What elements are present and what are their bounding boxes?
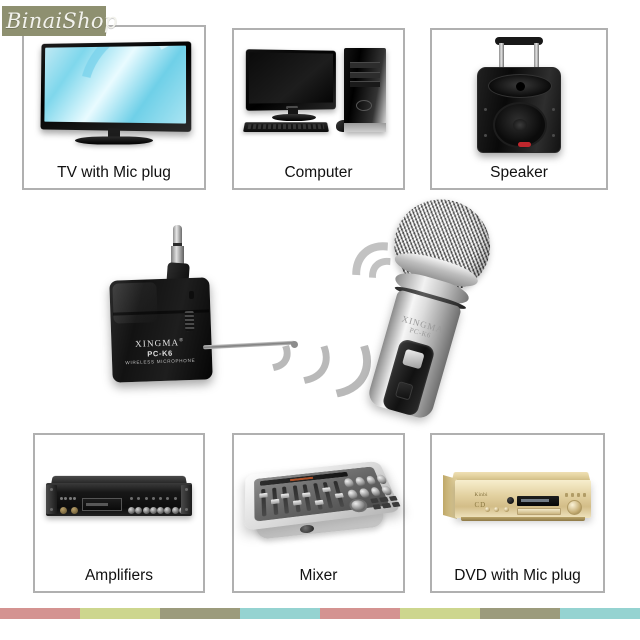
color-strip-band-5 [400,608,480,619]
wireless-receiver-product: XINGMA® PC-K6 WIRELESS MICROPHONE [103,225,283,375]
compat-caption-mixer: Mixer [234,567,403,585]
dvd-player-icon: Kinbi CD [432,439,603,557]
compat-box-tv: TV with Mic plug [22,25,206,190]
compat-caption-tv: TV with Mic plug [24,164,204,182]
compat-box-dvd: Kinbi CD DVD with Mic plug [430,433,605,593]
shop-watermark-logo: BinaiShop [2,6,106,36]
compat-box-speaker: Speaker [430,28,608,190]
audio-mixer-icon [234,439,403,557]
receiver-label-block: XINGMA® PC-K6 WIRELESS MICROPHONE [117,338,204,366]
compat-caption-speaker: Speaker [432,164,606,182]
receiver-brand-mark: ® [179,338,184,343]
portable-speaker-icon [432,34,606,154]
color-strip-band-2 [160,608,240,619]
color-strip-band-4 [320,608,400,619]
compat-box-computer: Computer [232,28,405,190]
wireless-microphone-product: XINGMA PC-K6 [375,195,550,425]
color-strip-band-0 [0,608,80,619]
television-icon [24,31,204,154]
compat-box-mixer: Mixer [232,433,405,593]
color-strip-band-3 [240,608,320,619]
compat-caption-dvd: DVD with Mic plug [432,567,603,585]
desktop-computer-icon [234,34,403,154]
color-strip-band-7 [560,608,640,619]
color-strip-band-1 [80,608,160,619]
compat-caption-computer: Computer [234,164,403,182]
compat-box-amplifiers: Amplifiers [33,433,205,593]
bottom-color-strip [0,608,640,619]
receiver-brand: XINGMA [135,337,180,349]
compat-caption-amplifiers: Amplifiers [35,567,203,585]
amplifier-icon [35,439,203,557]
color-strip-band-6 [480,608,560,619]
shop-watermark-text: BinaiShop [2,9,118,33]
